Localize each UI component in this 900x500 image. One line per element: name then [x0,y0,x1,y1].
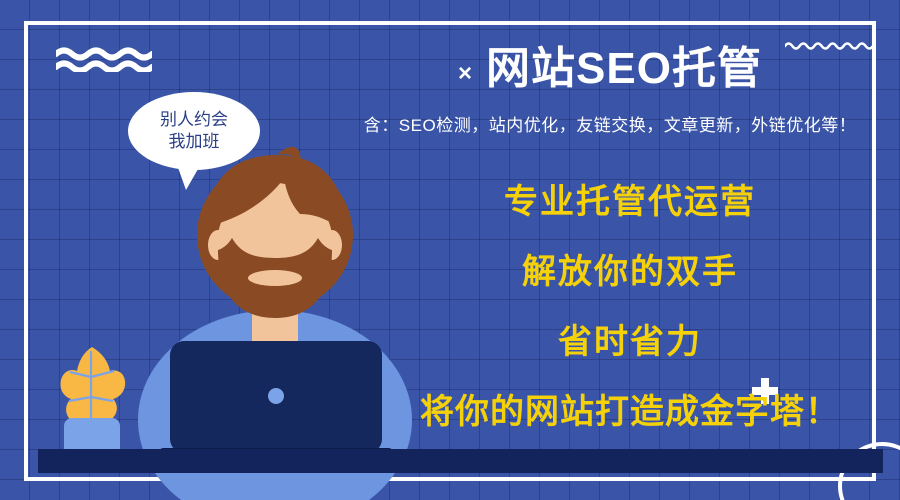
slogan-item: 专业托管代运营 [390,185,870,219]
slogan-item: 解放你的双手 [390,255,870,289]
slogan-item: 将你的网站打造成金字塔！ [390,395,870,429]
slogan-item: 省时省力 [390,325,870,359]
x-mark-icon: × [458,52,472,86]
title-row: × 网站SEO托管 [330,44,890,95]
title-block: × 网站SEO托管 含：SEO检测，站内优化，友链交换，文章更新，外链优化等！ [330,44,890,136]
seo-hosting-banner: 别人约会 我加班 × 网站SEO托管 含：SEO检测，站内优化，友链交换，文章更… [0,0,900,500]
plant-pot [64,418,120,452]
slogan-list: 专业托管代运营 解放你的双手 省时省力 将你的网站打造成金字塔！ [390,185,870,429]
page-subtitle: 含：SEO检测，站内优化，友链交换，文章更新，外链优化等！ [330,111,890,136]
desk-surface [38,449,883,473]
speech-bubble-line-1: 别人约会 [160,109,228,131]
page-title: 网站SEO托管 [486,44,762,95]
speech-bubble-line-2: 我加班 [169,131,220,153]
speech-bubble: 别人约会 我加班 [128,92,260,170]
